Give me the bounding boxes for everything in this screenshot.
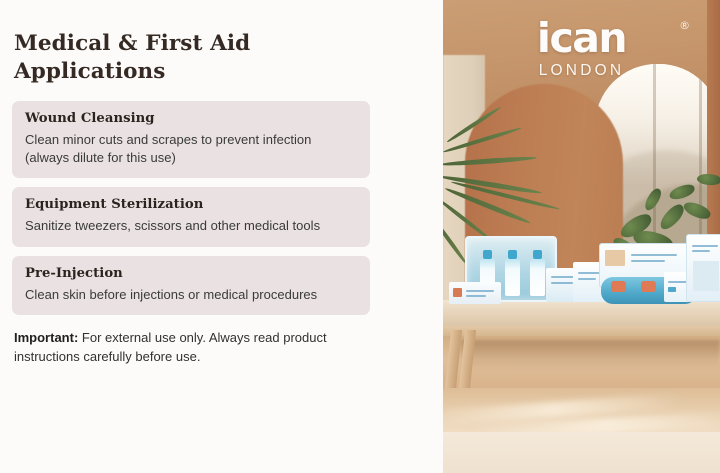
palm-frond <box>443 126 522 154</box>
label-text-line <box>631 254 677 256</box>
card-body: Clean minor cuts and scrapes to prevent … <box>25 131 357 168</box>
plant-leaf <box>682 199 713 223</box>
tray-cell <box>611 281 626 292</box>
label-text-line <box>466 290 494 292</box>
label-text-line <box>466 295 486 297</box>
important-note: Important: For external use only. Always… <box>14 329 372 367</box>
counter-edge <box>443 326 720 336</box>
application-card-equipment-sterilization: Equipment Sterilization Sanitize tweezer… <box>12 187 370 246</box>
floor-step <box>443 432 720 473</box>
plant-leaf <box>696 172 720 186</box>
label-panel <box>693 261 719 291</box>
card-heading: Pre-Injection <box>25 265 357 283</box>
label-text-line <box>578 278 596 280</box>
product-bottle <box>530 258 545 296</box>
card-body: Clean skin before injections or medical … <box>25 286 357 304</box>
tray-cell <box>641 281 656 292</box>
slide-root: Medical & First Aid Applications Wound C… <box>0 0 720 473</box>
page-title: Medical & First Aid Applications <box>14 30 344 87</box>
counter-shadow <box>461 340 720 370</box>
application-card-wound-cleansing: Wound Cleansing Clean minor cuts and scr… <box>12 101 370 179</box>
product-flat-pack-left <box>449 282 501 304</box>
label-accent <box>453 288 462 297</box>
plant-leaf <box>642 186 665 212</box>
label-accent <box>668 287 676 292</box>
card-body: Sanitize tweezers, scissors and other me… <box>25 217 357 235</box>
potted-palm-left <box>443 120 557 250</box>
product-photo-panel: ican ® LONDON <box>443 0 720 473</box>
palm-frond <box>443 155 537 167</box>
label-panel <box>605 250 625 266</box>
label-text-line <box>692 250 710 252</box>
label-text-line <box>692 245 718 247</box>
card-heading: Wound Cleansing <box>25 110 357 128</box>
application-card-list: Wound Cleansing Clean minor cuts and scr… <box>12 101 429 315</box>
content-panel: Medical & First Aid Applications Wound C… <box>0 0 443 473</box>
important-note-label: Important: <box>14 330 78 345</box>
label-text-line <box>551 282 573 284</box>
application-card-pre-injection: Pre-Injection Clean skin before injectio… <box>12 256 370 315</box>
plant-leaf <box>668 183 696 202</box>
product-bottle <box>505 258 520 296</box>
photo-scene: ican ® LONDON <box>443 0 720 473</box>
product-tall-box-right <box>686 234 720 302</box>
label-text-line <box>631 260 665 262</box>
card-heading: Equipment Sterilization <box>25 196 357 214</box>
